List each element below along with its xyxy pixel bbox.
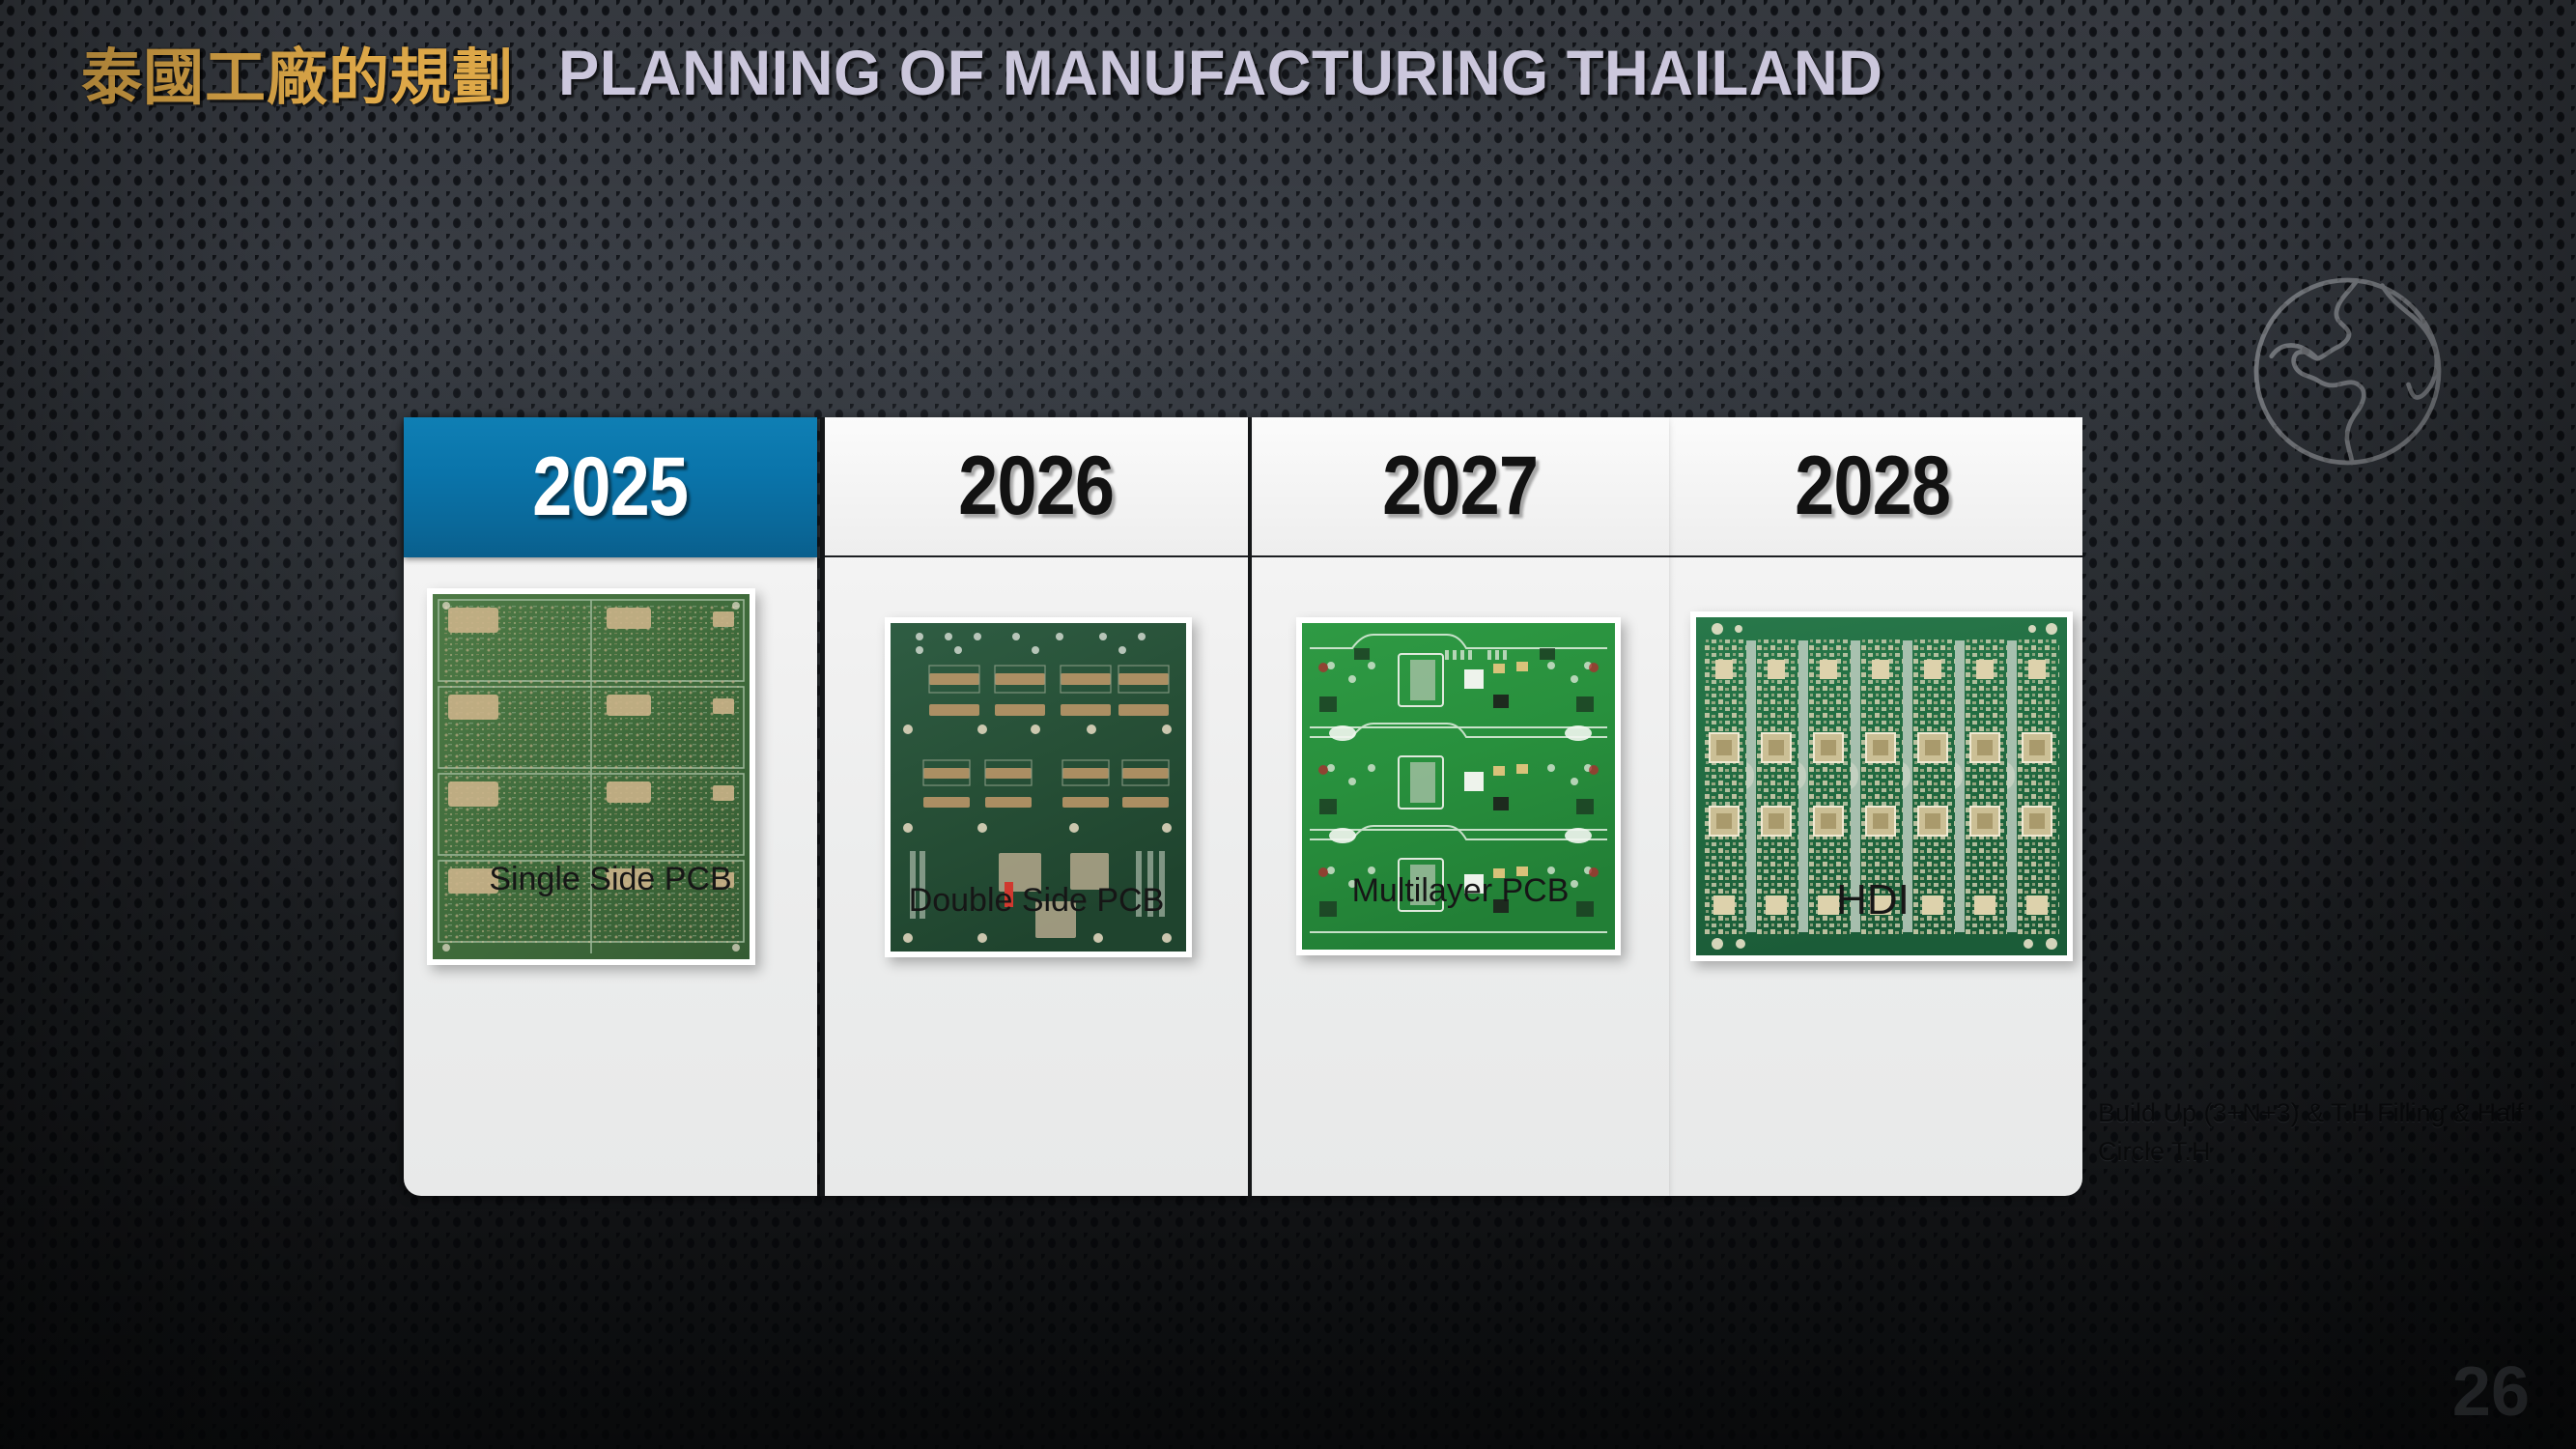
- page-number: 26: [2452, 1352, 2530, 1432]
- year-header-2025[interactable]: 2025: [404, 417, 817, 557]
- globe-icon: [2239, 263, 2456, 480]
- pcb-image-single-side: [427, 588, 755, 965]
- page-title-chinese: 泰國工廠的規劃: [81, 29, 514, 117]
- card-body-2028: HDI: [1663, 557, 2082, 1196]
- page-title-english: PLANNING OF MANUFACTURING THAILAND: [558, 36, 1882, 109]
- card-body-2026: Double Side PCB: [825, 557, 1248, 1196]
- card-caption-2028: HDI: [1663, 876, 2082, 924]
- slide-title-bar: 泰國工廠的規劃 PLANNING OF MANUFACTURING THAILA…: [0, 0, 2576, 145]
- card-caption-2026: Double Side PCB: [825, 882, 1248, 920]
- roadmap-card-2025[interactable]: 2025: [404, 417, 817, 1196]
- year-label: 2025: [532, 440, 688, 535]
- year-header-2028[interactable]: 2028: [1663, 417, 2082, 557]
- card-caption-2025: Single Side PCB: [404, 861, 817, 898]
- roadmap-card-rail: 2025: [404, 417, 2082, 1196]
- roadmap-card-2026[interactable]: 2026: [825, 417, 1248, 1196]
- slide-canvas: 泰國工廠的規劃 PLANNING OF MANUFACTURING THAILA…: [0, 0, 2576, 1449]
- year-header-2027[interactable]: 2027: [1252, 417, 1669, 557]
- card-body-2027: Multilayer PCB: [1252, 557, 1669, 1196]
- year-header-2026[interactable]: 2026: [825, 417, 1248, 557]
- year-label: 2027: [1382, 439, 1538, 534]
- year-label: 2026: [958, 439, 1114, 534]
- roadmap-card-2028[interactable]: 2028: [1663, 417, 2082, 1196]
- roadmap-card-2027[interactable]: 2027: [1252, 417, 1669, 1196]
- year-label: 2028: [1795, 439, 1950, 534]
- card-caption-2027: Multilayer PCB: [1252, 872, 1669, 910]
- card-body-2025: Single Side PCB: [404, 557, 817, 1196]
- hdi-build-up-note: Build Up (3+N+3) & T.H Filling & Half Ci…: [2098, 1094, 2552, 1171]
